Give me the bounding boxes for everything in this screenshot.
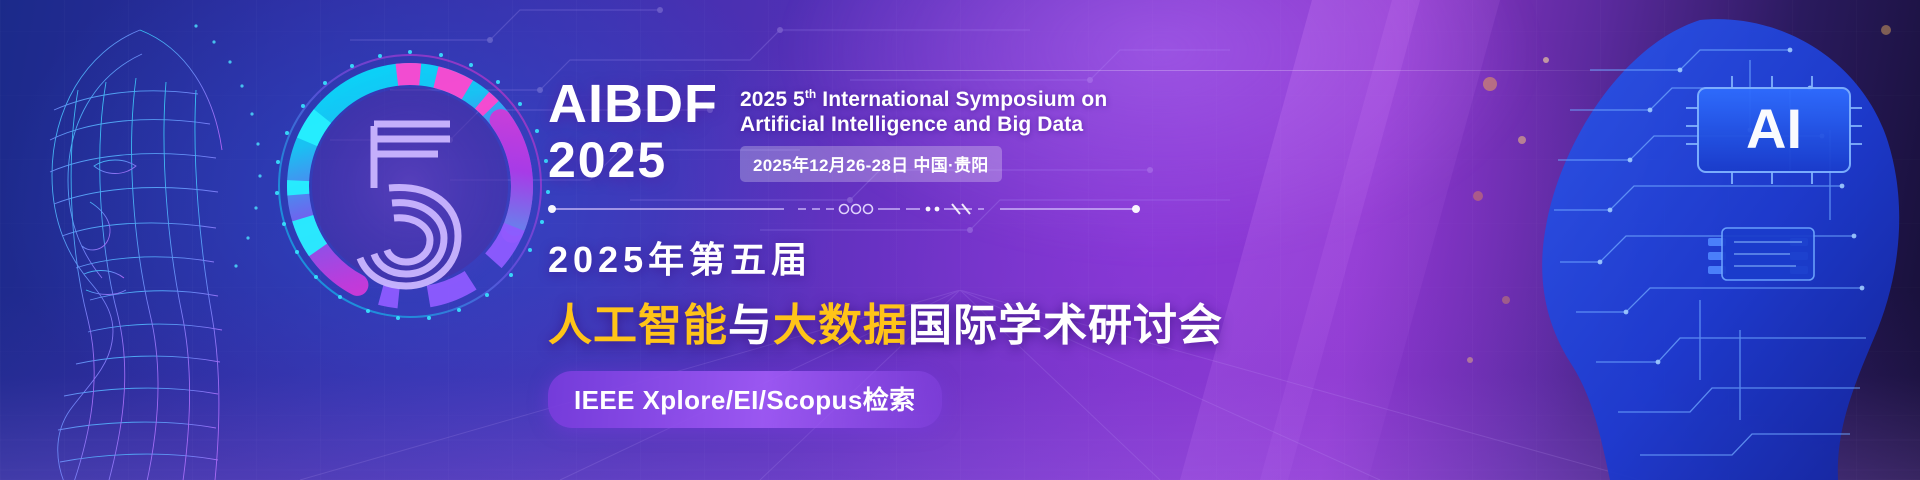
english-line1-post: International Symposium on	[816, 88, 1107, 111]
title-part-and: 与	[728, 301, 773, 350]
english-title-line1: 2025 5th International Symposium on	[740, 82, 1107, 112]
date-location-badge: 2025年12月26-28日 中国·贵阳	[740, 146, 1002, 182]
title-part-bigdata: 大数据	[773, 301, 908, 350]
emblem-five-icon	[262, 38, 558, 334]
english-line1-pre: 2025 5	[740, 88, 805, 111]
acronym-year: 2025	[548, 134, 718, 186]
conference-acronym: AIBDF 2025	[548, 78, 718, 186]
chinese-subtitle: 2025年第五届	[548, 231, 1228, 283]
title-row: AIBDF 2025 2025 5th International Sympos…	[548, 78, 1228, 186]
chinese-main-title: 人工智能与大数据国际学术研讨会	[548, 289, 1228, 353]
banner-content: AIBDF 2025 2025 5th International Sympos…	[548, 78, 1228, 428]
acronym-text: AIBDF	[548, 74, 718, 134]
english-title-block: 2025 5th International Symposium on Arti…	[740, 78, 1107, 182]
decorative-divider	[548, 202, 1140, 216]
title-part-symposium: 国际学术研讨会	[908, 301, 1223, 350]
ordinal-suffix: th	[805, 87, 817, 101]
title-part-ai: 人工智能	[548, 301, 728, 350]
ai-robot-head-graphic: AI	[1450, 0, 1920, 480]
conference-banner: AIBDF 2025 2025 5th International Sympos…	[0, 0, 1920, 480]
ai-chip-label: AI	[1746, 97, 1802, 160]
indexing-badge: IEEE Xplore/EI/Scopus检索	[548, 371, 942, 428]
english-title-line2: Artificial Intelligence and Big Data	[740, 112, 1107, 137]
